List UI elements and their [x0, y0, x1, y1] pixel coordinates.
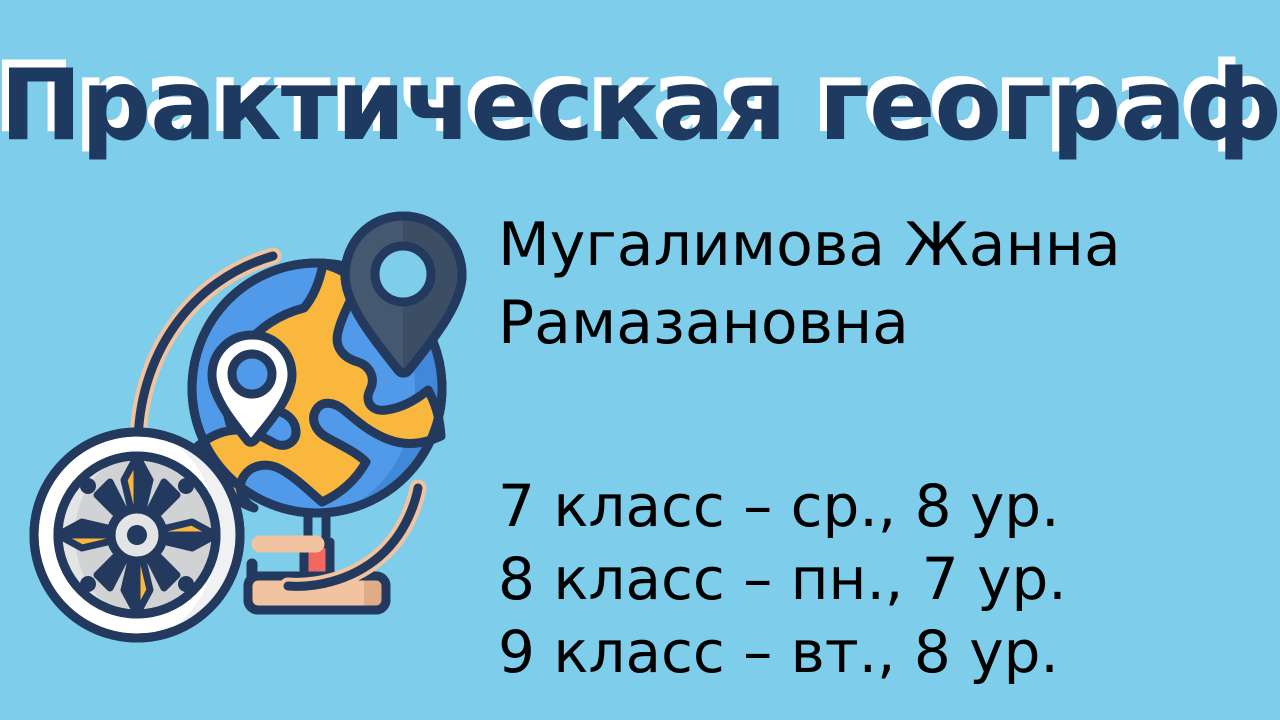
- compass-icon: [34, 432, 240, 638]
- schedule-line-grade-9: 9 класс – вт., 8 ур.: [498, 616, 1218, 689]
- page-title-text: Практическая география: [0, 44, 1280, 168]
- schedule-list: 7 класс – ср., 8 ур. 8 класс – пн., 7 ур…: [498, 470, 1218, 689]
- globe-and-compass-illustration: [20, 198, 480, 650]
- page-title: Практическая география Практическая геог…: [0, 44, 1280, 174]
- teacher-name-line-2: Рамазановна: [498, 284, 1218, 362]
- teacher-name: Мугалимова Жанна Рамазановна: [498, 206, 1218, 362]
- schedule-line-grade-7: 7 класс – ср., 8 ур.: [498, 470, 1218, 543]
- schedule-line-grade-8: 8 класс – пн., 7 ур.: [498, 543, 1218, 616]
- slide-canvas: Практическая география Практическая геог…: [0, 0, 1280, 720]
- teacher-name-line-1: Мугалимова Жанна: [498, 206, 1218, 284]
